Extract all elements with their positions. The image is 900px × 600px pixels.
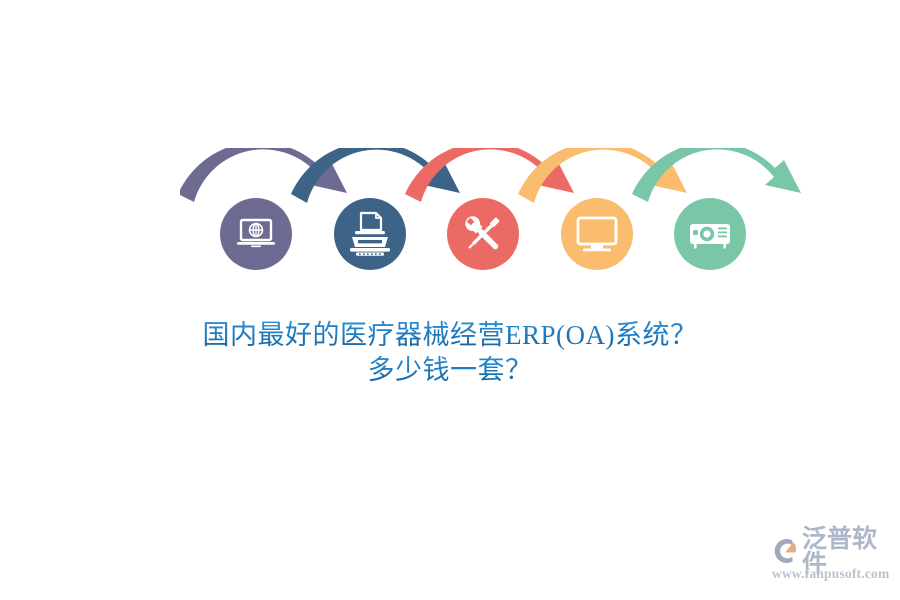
flow-node-typewriter[interactable] xyxy=(334,198,406,270)
arrow-5-over-green xyxy=(632,148,801,202)
headline-block: 国内最好的医疗器械经营ERP(OA)系统？ 多少钱一套？ xyxy=(0,318,900,387)
flow-node-tools[interactable] xyxy=(447,198,519,270)
watermark: 泛普软件 www.fanpusoft.com xyxy=(770,534,896,588)
headline-line-2: 多少钱一套？ xyxy=(0,353,900,388)
flow-node-projector[interactable] xyxy=(674,198,746,270)
canvas: 国内最好的医疗器械经营ERP(OA)系统？ 多少钱一套？ 泛普软件 www.fa… xyxy=(0,0,900,600)
watermark-url-text: www.fanpusoft.com xyxy=(772,566,889,582)
flow-node-laptop-globe[interactable] xyxy=(220,198,292,270)
node-1-circle xyxy=(220,198,292,270)
node-2-circle xyxy=(334,198,406,270)
watermark-brand-row: 泛普软件 xyxy=(770,534,896,568)
node-5-circle xyxy=(674,198,746,270)
flow-svg xyxy=(180,148,810,313)
fanpu-logo-icon xyxy=(770,536,800,566)
node-4-circle xyxy=(561,198,633,270)
process-flow-diagram xyxy=(180,148,810,313)
headline-line-1: 国内最好的医疗器械经营ERP(OA)系统？ xyxy=(0,318,900,353)
node-3-circle xyxy=(447,198,519,270)
arrow-1-over-purple xyxy=(180,148,347,202)
flow-node-monitor[interactable] xyxy=(561,198,633,270)
